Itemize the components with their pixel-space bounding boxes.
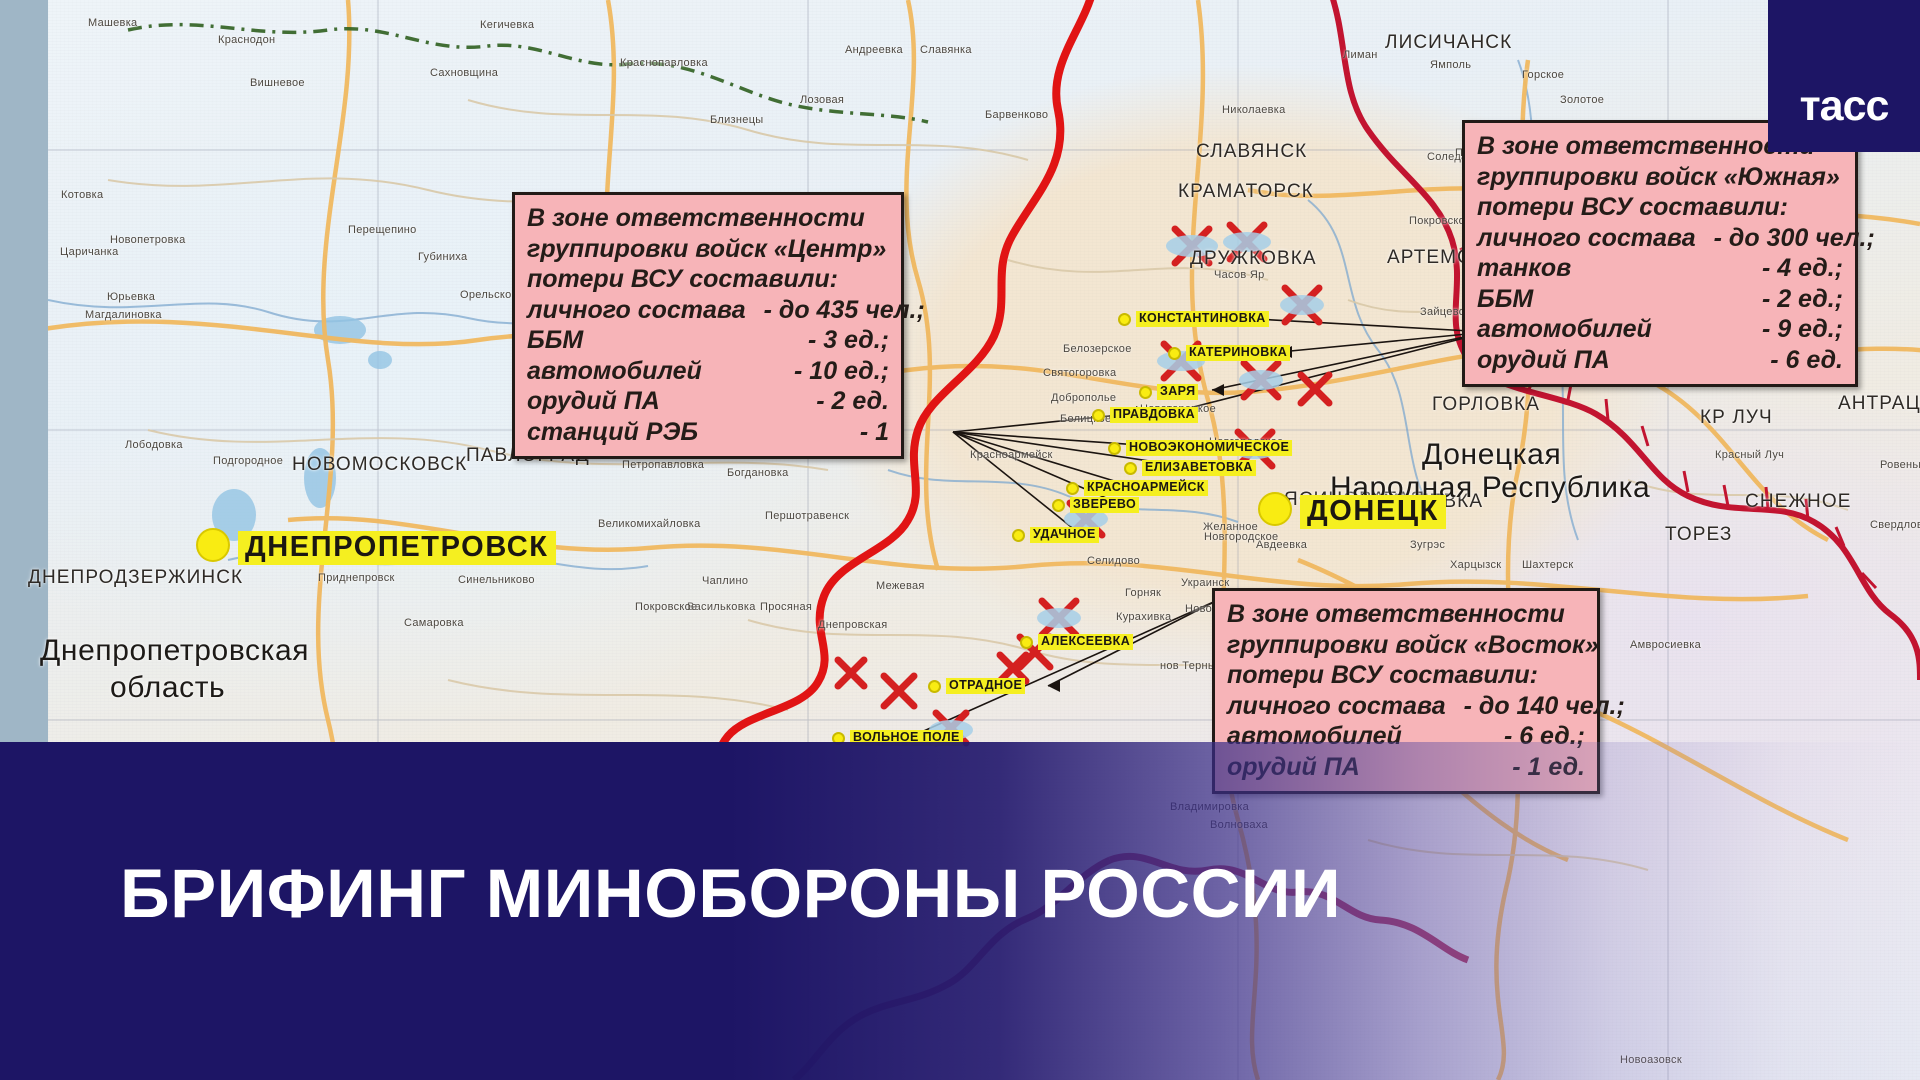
map-place-label: Вишневое [250,78,305,89]
map-town-label: СЛАВЯНСК [1196,142,1307,161]
map-place-label: Губиниха [418,252,467,263]
map-place-label: Самаровка [404,618,464,629]
map-place-label: Андреевка [845,45,903,56]
map-place-label: Золотое [1560,95,1604,106]
infobox-row-label: орудий ПА [527,386,660,417]
settlement-label-highlighted: ЗВЕРЕВО [1070,497,1139,513]
map-place-label: Славянка [920,45,972,56]
infobox-row-label: орудий ПА [1477,345,1610,376]
map-place-label: Днепровская [818,620,887,631]
banner-left-edge [0,742,48,1080]
infobox-row: орудий ПА- 6 ед. [1477,345,1843,376]
map-place-label: Чаплино [702,576,748,587]
map-place-label: Близнецы [710,115,764,126]
map-place-label: Амвросиевка [1630,640,1701,651]
map-town-label: ТОРЕЗ [1665,525,1732,544]
map-town-label: КРАМАТОРСК [1178,182,1314,201]
infobox-south-grouping: В зоне ответственностигруппировки войск … [1462,120,1858,387]
map-place-label: Сахновщина [430,68,498,79]
map-place-label: Орельское [460,290,518,301]
map-place-label: Харцызск [1450,560,1501,571]
infobox-row-value: - 6 ед. [1752,345,1843,376]
infobox-row-value: - 2 ед. [798,386,889,417]
map-place-label: Доброполье [1051,393,1116,404]
settlement-marker-dot [1124,462,1137,475]
map-place-label: Петропавловка [622,460,704,471]
map-place-label: Зайцево [1420,307,1465,318]
infobox-row-label: личного состава [527,295,746,326]
infobox-row-value: - до 435 чел.; [746,295,925,326]
settlement-marker-dot [1020,636,1033,649]
map-place-label: Приднепровск [318,573,395,584]
lower-third-banner: БРИФИНГ МИНОБОРОНЫ РОССИИ [0,742,1920,1080]
map-place-label: Селидово [1087,556,1140,567]
map-town-label: ГОРЛОВКА [1432,395,1540,414]
settlement-marker-dot [1108,442,1121,455]
map-place-label: Лободовка [125,440,183,451]
infobox-row-value: - 2 ед.; [1744,284,1843,315]
settlement-marker-dot [1168,347,1181,360]
map-place-label: Покровское [635,602,697,613]
map-place-label: Кегичевка [480,20,534,31]
infobox-header-line: группировки войск «Южная» [1477,162,1843,193]
settlement-label-highlighted: КРАСНОАРМЕЙСК [1084,480,1208,496]
map-place-label: Свердловск [1870,520,1920,531]
infobox-header-line: потери ВСУ составили: [527,264,889,295]
settlement-marker-dot [1066,482,1079,495]
settlement-label-highlighted: УДАЧНОЕ [1030,527,1099,543]
settlement-marker-dot [1118,313,1131,326]
infobox-row-value: - 1 [842,417,889,448]
tass-logo-text: тасс [1800,85,1889,128]
infobox-row: станций РЭБ- 1 [527,417,889,448]
infobox-header-line: группировки войск «Восток» [1227,630,1585,661]
map-place-label: Ровеньки [1880,460,1920,471]
map-place-label: Магдалиновка [85,310,162,321]
settlement-label-highlighted: КАТЕРИНОВКА [1186,345,1290,361]
settlement-marker-dot [1052,499,1065,512]
map-place-label: Горняк [1125,588,1161,599]
map-place-label: нов Терны [1160,661,1216,672]
city-marker-dot [1258,492,1292,526]
map-region-label: Днепропетровская [40,636,309,666]
map-place-label: Царичанка [60,247,119,258]
settlement-marker-dot [1139,386,1152,399]
infobox-row-label: танков [1477,253,1571,284]
infobox-row-label: ББМ [1477,284,1533,315]
infobox-row: ББМ- 2 ед.; [1477,284,1843,315]
infobox-row-label: станций РЭБ [527,417,698,448]
map-town-label: КР ЛУЧ [1700,408,1773,427]
settlement-label-highlighted: НОВОЭКОНОМИЧЕСКОЕ [1126,440,1292,456]
infobox-header-line: потери ВСУ составили: [1477,192,1843,223]
map-place-label: Новгородское [1204,532,1278,543]
infobox-header-line: В зоне ответственности [527,203,889,234]
map-place-label: Зугрэс [1410,540,1445,551]
map-town-label: ДНЕПРОДЗЕРЖИНСК [28,568,243,587]
infobox-row: личного состава- до 140 чел.; [1227,691,1585,722]
map-place-label: Святогоровка [1043,368,1116,379]
map-place-label: Машевка [88,18,137,29]
map-town-label: НОВОМОСКОВСК [292,455,467,474]
infobox-row-label: автомобилей [527,356,702,387]
map-place-label: Подгородное [213,456,283,467]
infobox-row: автомобилей- 10 ед.; [527,356,889,387]
map-place-label: Просяная [760,602,812,613]
map-place-label: Першотравенск [765,511,849,522]
infobox-center-grouping: В зоне ответственностигруппировки войск … [512,192,904,459]
infobox-header-line: группировки войск «Центр» [527,234,889,265]
map-region-label: Донецкая [1422,440,1561,470]
infobox-row: ББМ- 3 ед.; [527,325,889,356]
settlement-marker-dot [1012,529,1025,542]
settlement-label-highlighted: КОНСТАНТИНОВКА [1136,311,1269,327]
infobox-header-line: потери ВСУ составили: [1227,660,1585,691]
map-place-label: Барвенково [985,110,1048,121]
map-town-label: АНТРАЦИТ [1838,394,1920,413]
map-place-label: Великомихайловка [598,519,701,530]
map-place-label: Красноармейск [970,450,1053,461]
infobox-row-label: личного состава [1477,223,1696,254]
infobox-row: личного состава- до 300 чел.; [1477,223,1843,254]
map-place-label: Ямполь [1430,60,1471,71]
infobox-row-value: - 3 ед.; [790,325,889,356]
map-town-label: СНЕЖНОЕ [1745,492,1852,511]
city-label-highlighted: ДОНЕЦК [1300,495,1446,529]
map-place-label: Николаевка [1222,105,1286,116]
map-place-label: Белозерское [1063,344,1132,355]
infobox-row: орудий ПА- 2 ед. [527,386,889,417]
map-place-label: Горское [1522,70,1564,81]
map-place-label: Курахивка [1116,612,1171,623]
infobox-header-line: В зоне ответственности [1227,599,1585,630]
map-place-label: Лиман [1343,50,1378,61]
map-place-label: Межевая [876,581,925,592]
map-place-label: Часов Яр [1214,270,1265,281]
settlement-label-highlighted: ОТРАДНОЕ [946,678,1025,694]
infobox-row: танков- 4 ед.; [1477,253,1843,284]
infobox-row-value: - 10 ед.; [776,356,889,387]
infobox-row: автомобилей- 9 ед.; [1477,314,1843,345]
map-place-label: Краснодон [218,35,275,46]
map-place-label: Краснопавловка [620,58,708,69]
infobox-row-label: личного состава [1227,691,1446,722]
infobox-row: личного состава- до 435 чел.; [527,295,889,326]
settlement-marker-dot [928,680,941,693]
settlement-label-highlighted: ЕЛИЗАВЕТОВКА [1142,460,1256,476]
map-place-label: Юрьевка [107,292,155,303]
city-marker-dot [196,528,230,562]
screenshot-root: НиколаевкаСоледарЧасов ЯрПокровскоеЗайце… [0,0,1920,1080]
map-place-label: Красный Луч [1715,450,1784,461]
infobox-row-value: - 9 ед.; [1744,314,1843,345]
map-place-label: Богдановка [727,468,789,479]
map-place-label: Шахтерск [1522,560,1573,571]
settlement-label-highlighted: АЛЕКСЕЕВКА [1038,634,1133,650]
infobox-row-label: автомобилей [1477,314,1652,345]
tass-logo: тасс [1768,0,1920,152]
map-place-label: Синельниково [458,575,535,586]
infobox-row-label: ББМ [527,325,583,356]
map-town-label: ДРУЖКОВКА [1190,249,1317,268]
map-place-label: Котовка [61,190,103,201]
settlement-label-highlighted: ЗАРЯ [1157,384,1198,400]
map-place-label: Лозовая [800,95,844,106]
banner-title: БРИФИНГ МИНОБОРОНЫ РОССИИ [120,859,1341,928]
infobox-row-value: - до 140 чел.; [1446,691,1625,722]
map-region-label: область [110,673,225,703]
city-label-highlighted: ДНЕПРОПЕТРОВСК [238,531,556,565]
infobox-row-value: - до 300 чел.; [1696,223,1875,254]
infobox-row-value: - 4 ед.; [1744,253,1843,284]
map-place-label: Новопетровка [110,235,186,246]
settlement-label-highlighted: ПРАВДОВКА [1110,407,1198,423]
map-place-label: Перещепино [348,225,417,236]
settlement-marker-dot [1092,409,1105,422]
map-town-label: ЛИСИЧАНСК [1385,33,1512,52]
